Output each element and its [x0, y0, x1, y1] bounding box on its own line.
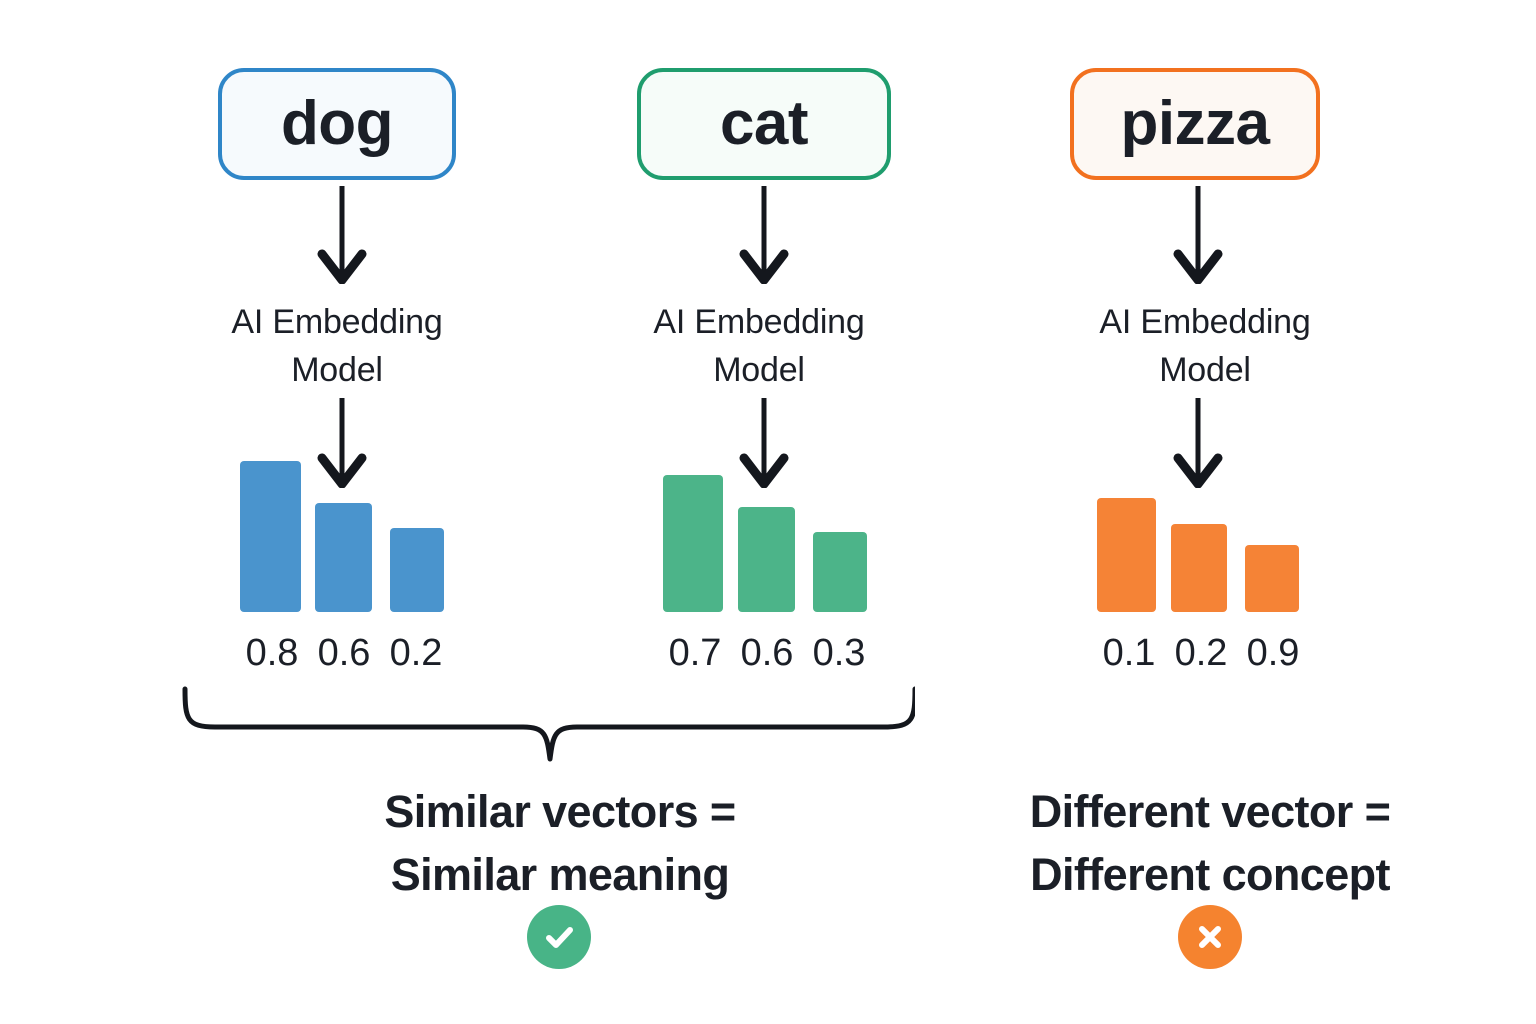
bar: [1171, 524, 1227, 612]
curly-brace-icon: [175, 685, 915, 765]
bar-values-cat: 0.7 0.6 0.3: [659, 634, 875, 672]
conclusion-line2: Different concept: [950, 843, 1470, 906]
bar: [738, 507, 795, 612]
bar-value: 0.9: [1237, 634, 1309, 672]
arrow-down-icon: [1166, 186, 1230, 284]
bar: [1245, 545, 1299, 612]
bar-value: 0.2: [1165, 634, 1237, 672]
word-chip-label: pizza: [1120, 93, 1269, 155]
bar: [663, 475, 723, 612]
bar-value: 0.2: [380, 634, 452, 672]
bar-chart-dog: [240, 452, 450, 612]
bar-chart-pizza: [1097, 452, 1307, 612]
bar: [390, 528, 444, 612]
bar-value: 0.6: [731, 634, 803, 672]
word-chip-pizza[interactable]: pizza: [1070, 68, 1320, 180]
model-caption-cat: AI Embedding Model: [594, 298, 924, 395]
model-caption-dog: AI Embedding Model: [172, 298, 502, 395]
bar-chart-cat: [663, 452, 873, 612]
model-caption-line2: Model: [594, 346, 924, 394]
model-caption-line1: AI Embedding: [1040, 298, 1370, 346]
word-chip-label: dog: [281, 93, 393, 155]
status-badge-failure: [1178, 905, 1242, 969]
bar: [315, 503, 372, 612]
bar-value: 0.8: [236, 634, 308, 672]
x-icon: [1190, 917, 1230, 957]
bar: [1097, 498, 1156, 612]
conclusion-different: Different vector = Different concept: [950, 780, 1470, 906]
conclusion-similar: Similar vectors = Similar meaning: [300, 780, 820, 906]
bar-values-dog: 0.8 0.6 0.2: [236, 634, 452, 672]
arrow-down-icon: [732, 186, 796, 284]
bar-value: 0.7: [659, 634, 731, 672]
model-caption-line1: AI Embedding: [594, 298, 924, 346]
model-caption-pizza: AI Embedding Model: [1040, 298, 1370, 395]
bar-value: 0.1: [1093, 634, 1165, 672]
model-caption-line1: AI Embedding: [172, 298, 502, 346]
conclusion-line1: Different vector =: [950, 780, 1470, 843]
bar-value: 0.6: [308, 634, 380, 672]
word-chip-dog[interactable]: dog: [218, 68, 456, 180]
model-caption-line2: Model: [1040, 346, 1370, 394]
conclusion-line1: Similar vectors =: [300, 780, 820, 843]
diagram-canvas: dog AI Embedding Model 0.8 0.6 0.2 cat A…: [0, 0, 1536, 1024]
bar: [240, 461, 301, 612]
bar-value: 0.3: [803, 634, 875, 672]
model-caption-line2: Model: [172, 346, 502, 394]
check-icon: [539, 917, 579, 957]
status-badge-success: [527, 905, 591, 969]
conclusion-line2: Similar meaning: [300, 843, 820, 906]
word-chip-label: cat: [720, 93, 808, 155]
bar-values-pizza: 0.1 0.2 0.9: [1093, 634, 1309, 672]
bar: [813, 532, 867, 612]
arrow-down-icon: [310, 186, 374, 284]
word-chip-cat[interactable]: cat: [637, 68, 891, 180]
